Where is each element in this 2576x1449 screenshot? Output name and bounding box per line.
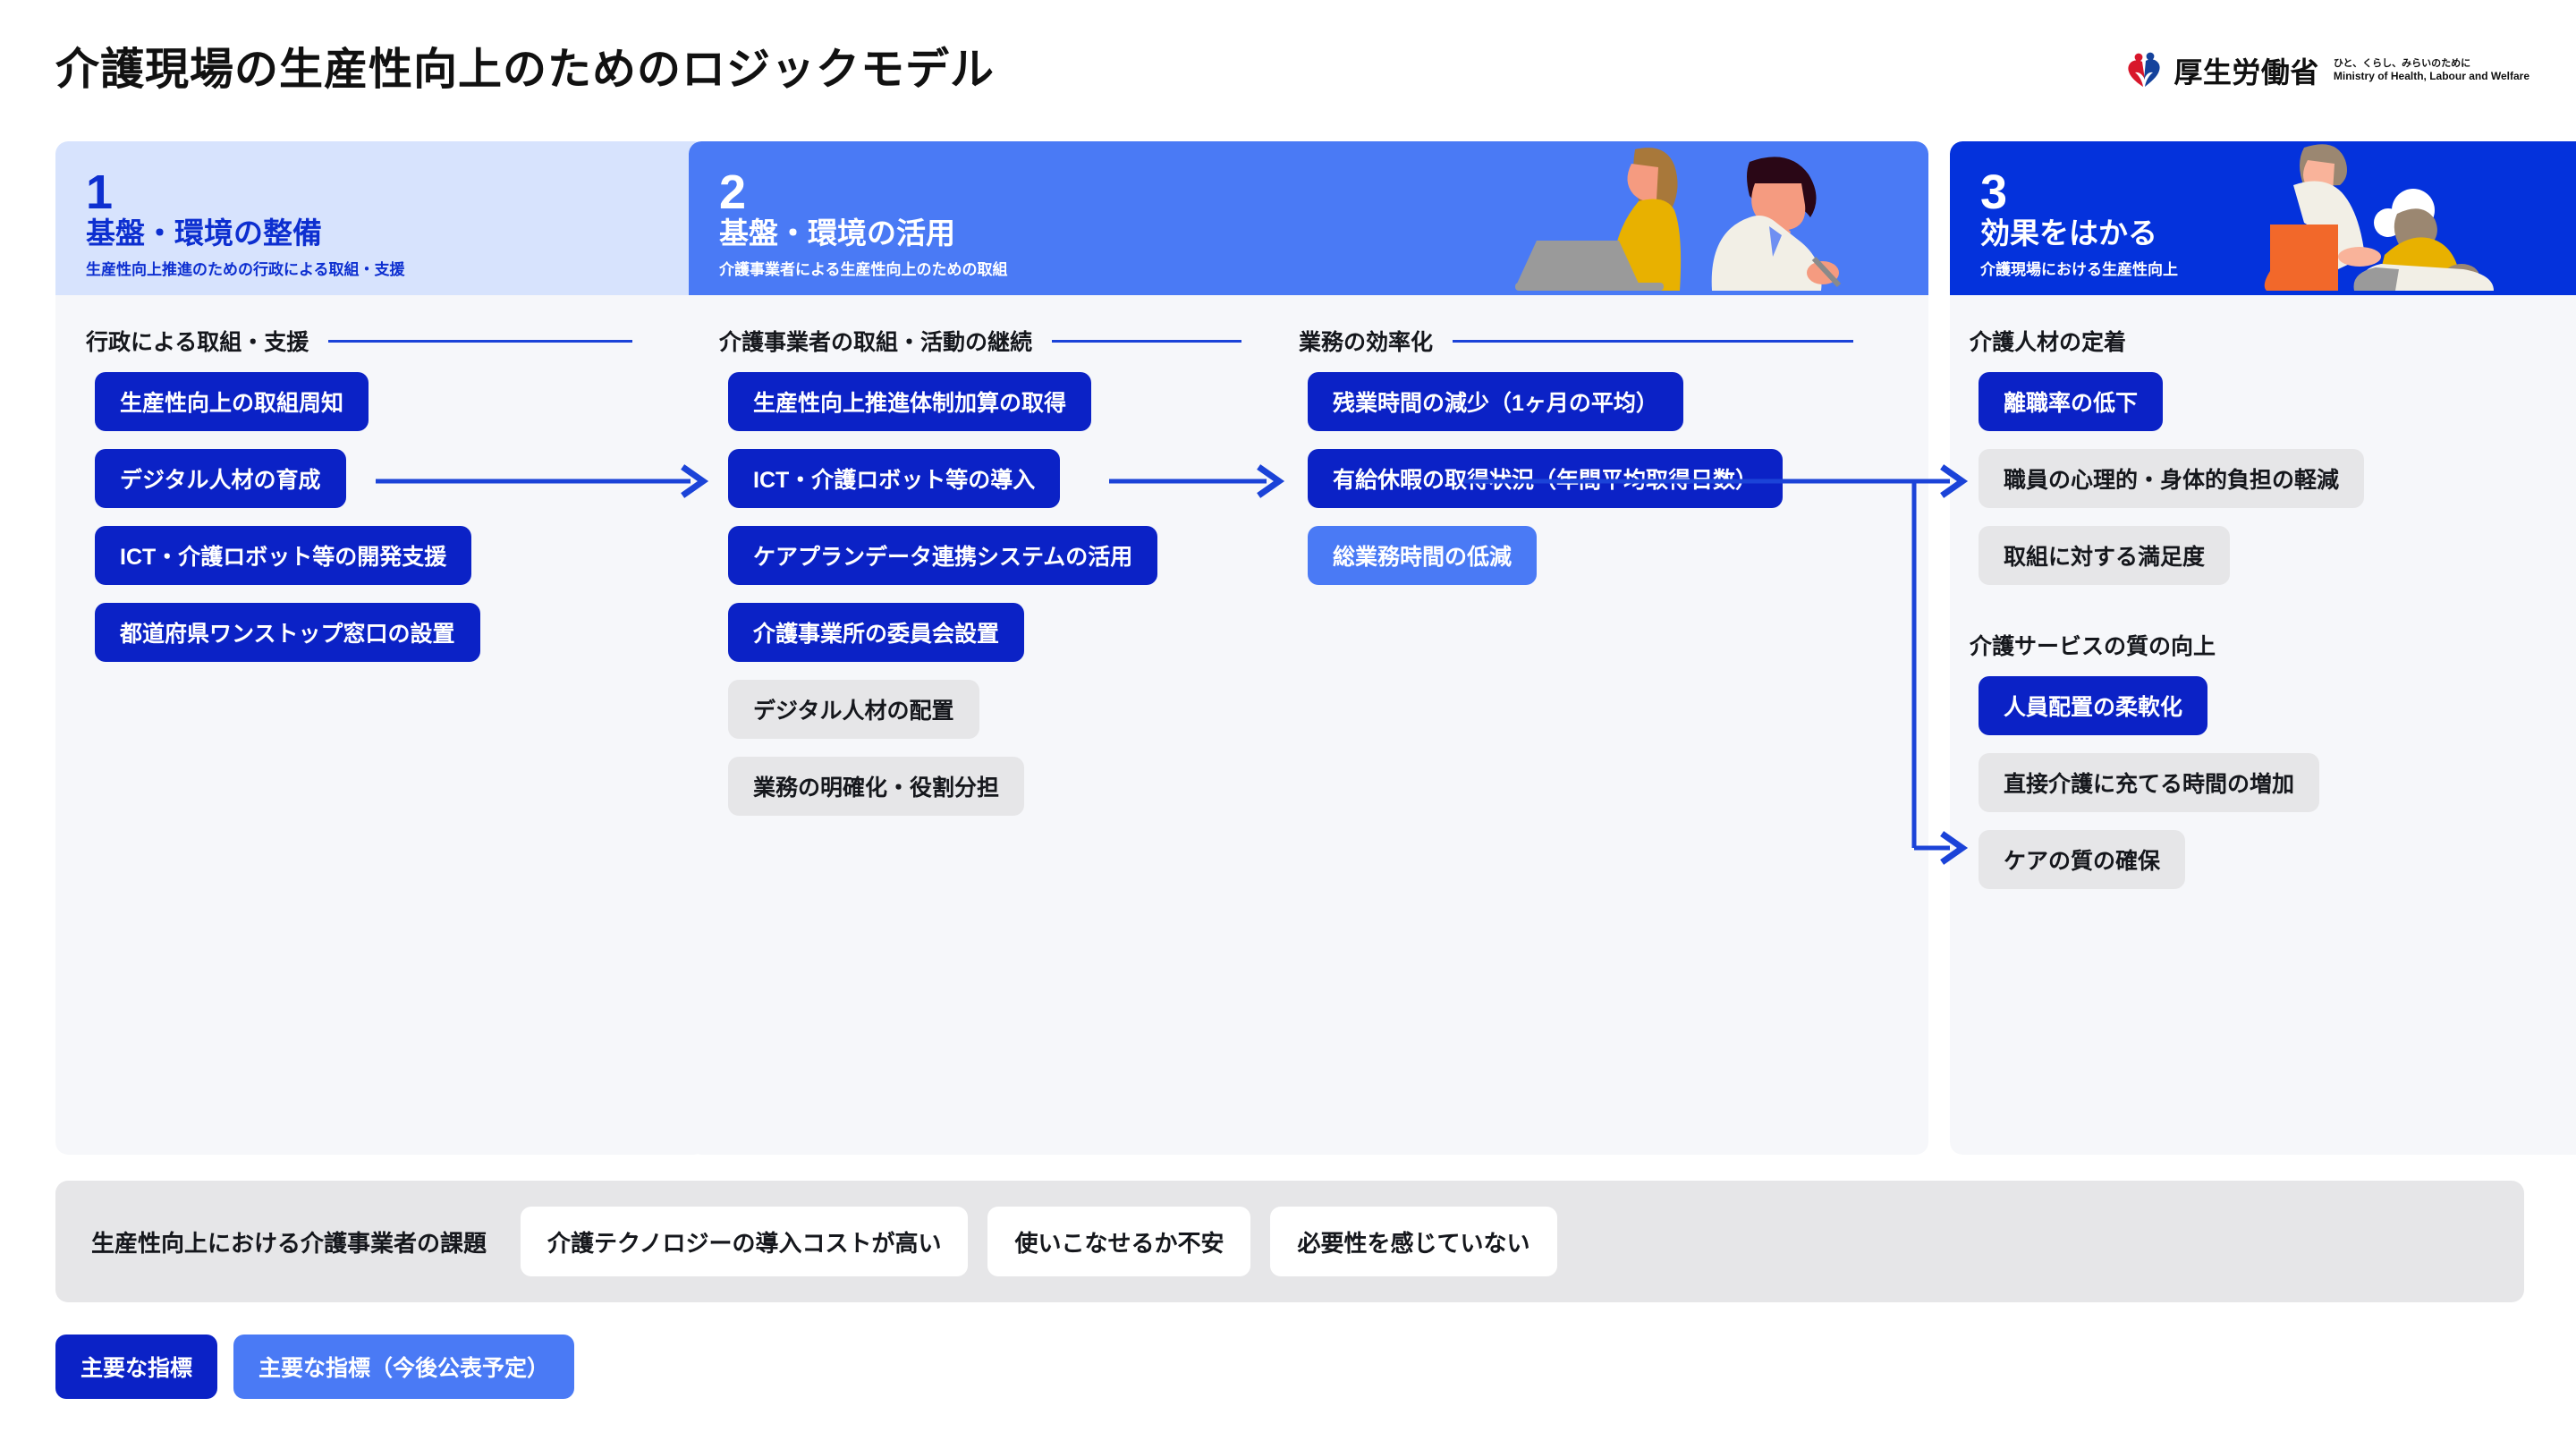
- panel-2-header: 2 基盤・環境の活用 介護事業者による生産性向上のための取組: [689, 141, 1928, 295]
- panel-2-title: 基盤・環境の活用: [719, 216, 1008, 250]
- indicator-chip[interactable]: 有給休暇の取得状況（年間平均取得日数）: [1308, 449, 1783, 508]
- issue-chip[interactable]: 介護テクノロジーの導入コストが高い: [521, 1207, 968, 1276]
- panel-2-subtitle: 介護事業者による生産性向上のための取組: [719, 257, 1008, 279]
- panel-3-title: 効果をはかる: [1980, 216, 2178, 250]
- indicator-chip[interactable]: 残業時間の減少（1ヶ月の平均）: [1308, 372, 1683, 431]
- group-work-efficiency: 業務の効率化 残業時間の減少（1ヶ月の平均） 有給休暇の取得状況（年間平均取得日…: [1299, 326, 1889, 603]
- issue-chip[interactable]: 必要性を感じていない: [1270, 1207, 1556, 1276]
- mhlw-logo-tagline: ひと、くらし、みらいのために Ministry of Health, Labou…: [2334, 58, 2529, 84]
- indicator-chip[interactable]: デジタル人材の配置: [728, 680, 979, 739]
- group-work-efficiency-label: 業務の効率化: [1299, 325, 1433, 357]
- panel-3-number: 3: [1980, 168, 2546, 216]
- logic-model-diagram: 介護現場の生産性向上のためのロジックモデル 厚生労働省 ひと、くらし、みらいのた…: [0, 0, 2576, 1449]
- panel-3-body: 介護人材の定着 離職率の低下 職員の心理的・身体的負担の軽減 取組に対する満足度…: [1950, 295, 2576, 1155]
- indicator-chip[interactable]: 総業務時間の低減: [1308, 526, 1537, 585]
- indicator-chip[interactable]: ケアの質の確保: [1979, 830, 2185, 889]
- panel-3-header: 3 効果をはかる 介護現場における生産性向上: [1950, 141, 2576, 295]
- indicator-chip[interactable]: 生産性向上の取組周知: [95, 372, 369, 431]
- indicator-chip[interactable]: ケアプランデータ連携システムの活用: [728, 526, 1157, 585]
- indicator-chip[interactable]: 業務の明確化・役割分担: [728, 757, 1024, 816]
- indicator-chip[interactable]: 介護事業所の委員会設置: [728, 603, 1024, 662]
- mhlw-tagline-en: Ministry of Health, Labour and Welfare: [2334, 70, 2529, 83]
- panel-measure-effects: 3 効果をはかる 介護現場における生産性向上: [1950, 141, 2576, 1155]
- indicator-chip[interactable]: ICT・介護ロボット等の導入: [728, 449, 1060, 508]
- legend-key-primary: 主要な指標: [55, 1335, 217, 1399]
- mhlw-tagline-jp: ひと、くらし、みらいのために: [2334, 58, 2529, 71]
- group-workforce-retention-label: 介護人材の定着: [1970, 325, 2126, 357]
- indicator-chip[interactable]: 取組に対する満足度: [1979, 526, 2230, 585]
- indicator-chip[interactable]: デジタル人材の育成: [95, 449, 346, 508]
- panel-foundation-development: 1 基盤・環境の整備 生産性向上推進のための行政による取組・支援 行政による取組…: [55, 141, 707, 1155]
- group-service-quality-label: 介護サービスの質の向上: [1970, 629, 2216, 661]
- mhlw-emblem-icon: [2123, 50, 2165, 91]
- indicator-chip[interactable]: ICT・介護ロボット等の開発支援: [95, 526, 471, 585]
- group-provider-initiatives-head: 介護事業者の取組・活動の継続: [719, 326, 1274, 356]
- panel-1-number: 1: [86, 168, 676, 216]
- group-service-quality-items: 人員配置の柔軟化 直接介護に充てる時間の増加 ケアの質の確保: [1970, 676, 2560, 907]
- group-workforce-retention: 介護人材の定着 離職率の低下 職員の心理的・身体的負担の軽減 取組に対する満足度: [1970, 326, 2560, 603]
- panel-2-illustration-office-workers: [1481, 141, 1928, 295]
- panel-1-body: 行政による取組・支援 生産性向上の取組周知 デジタル人材の育成 ICT・介護ロボ…: [55, 295, 707, 1155]
- panel-3-subtitle: 介護現場における生産性向上: [1980, 257, 2178, 279]
- mhlw-logo: 厚生労働省 ひと、くらし、みらいのために Ministry of Health,…: [2123, 50, 2529, 91]
- group-admin-initiatives: 行政による取組・支援 生産性向上の取組周知 デジタル人材の育成 ICT・介護ロボ…: [86, 326, 676, 680]
- legend: 主要な指標 主要な指標（今後公表予定）: [55, 1335, 574, 1399]
- panel-2-number: 2: [719, 168, 1898, 216]
- mhlw-logo-name: 厚生労働省: [2173, 50, 2319, 91]
- panel-1-header: 1 基盤・環境の整備 生産性向上推進のための行政による取組・支援: [55, 141, 707, 295]
- group-workforce-retention-items: 離職率の低下 職員の心理的・身体的負担の軽減 取組に対する満足度: [1970, 372, 2560, 603]
- panel-foundation-utilization: 2 基盤・環境の活用 介護事業者による生産性向上のための取組: [689, 141, 1928, 1155]
- group-workforce-retention-head: 介護人材の定着: [1970, 326, 2560, 356]
- group-work-efficiency-head: 業務の効率化: [1299, 326, 1889, 356]
- issues-label: 生産性向上における介護事業者の課題: [91, 1225, 487, 1258]
- group-rule: [1453, 340, 1853, 343]
- panel-2-body: 介護事業者の取組・活動の継続 生産性向上推進体制加算の取得 ICT・介護ロボット…: [689, 295, 1928, 1155]
- group-admin-initiatives-head: 行政による取組・支援: [86, 326, 676, 356]
- indicator-chip[interactable]: 人員配置の柔軟化: [1979, 676, 2207, 735]
- page-title: 介護現場の生産性向上のためのロジックモデル: [55, 34, 995, 97]
- indicator-chip[interactable]: 都道府県ワンストップ窓口の設置: [95, 603, 480, 662]
- indicator-chip[interactable]: 離職率の低下: [1979, 372, 2163, 431]
- group-rule: [1052, 340, 1241, 343]
- group-provider-initiatives: 介護事業者の取組・活動の継続 生産性向上推進体制加算の取得 ICT・介護ロボット…: [719, 326, 1274, 834]
- group-admin-initiatives-items: 生産性向上の取組周知 デジタル人材の育成 ICT・介護ロボット等の開発支援 都道…: [86, 372, 676, 680]
- issues-bar: 生産性向上における介護事業者の課題 介護テクノロジーの導入コストが高い 使いこな…: [55, 1181, 2524, 1302]
- group-rule: [328, 340, 632, 343]
- group-service-quality-head: 介護サービスの質の向上: [1970, 630, 2560, 660]
- group-provider-initiatives-items: 生産性向上推進体制加算の取得 ICT・介護ロボット等の導入 ケアプランデータ連携…: [719, 372, 1274, 834]
- indicator-chip[interactable]: 生産性向上推進体制加算の取得: [728, 372, 1091, 431]
- panel-1-title-block: 基盤・環境の整備 生産性向上推進のための行政による取組・支援: [86, 216, 405, 279]
- panel-1-title: 基盤・環境の整備: [86, 216, 405, 250]
- group-work-efficiency-items: 残業時間の減少（1ヶ月の平均） 有給休暇の取得状況（年間平均取得日数） 総業務時…: [1299, 372, 1889, 603]
- group-service-quality: 介護サービスの質の向上 人員配置の柔軟化 直接介護に充てる時間の増加 ケアの質の…: [1970, 630, 2560, 907]
- issue-chip[interactable]: 使いこなせるか不安: [987, 1207, 1250, 1276]
- panel-2-title-block: 基盤・環境の活用 介護事業者による生産性向上のための取組: [719, 216, 1008, 279]
- group-admin-initiatives-label: 行政による取組・支援: [86, 325, 309, 357]
- legend-key-future: 主要な指標（今後公表予定）: [233, 1335, 574, 1399]
- panel-3-illustration-caregiver-and-elder: [2254, 141, 2576, 295]
- group-provider-initiatives-label: 介護事業者の取組・活動の継続: [719, 325, 1032, 357]
- panel-1-subtitle: 生産性向上推進のための行政による取組・支援: [86, 257, 405, 279]
- panel-3-title-block: 効果をはかる 介護現場における生産性向上: [1980, 216, 2178, 279]
- indicator-chip[interactable]: 職員の心理的・身体的負担の軽減: [1979, 449, 2364, 508]
- indicator-chip[interactable]: 直接介護に充てる時間の増加: [1979, 753, 2319, 812]
